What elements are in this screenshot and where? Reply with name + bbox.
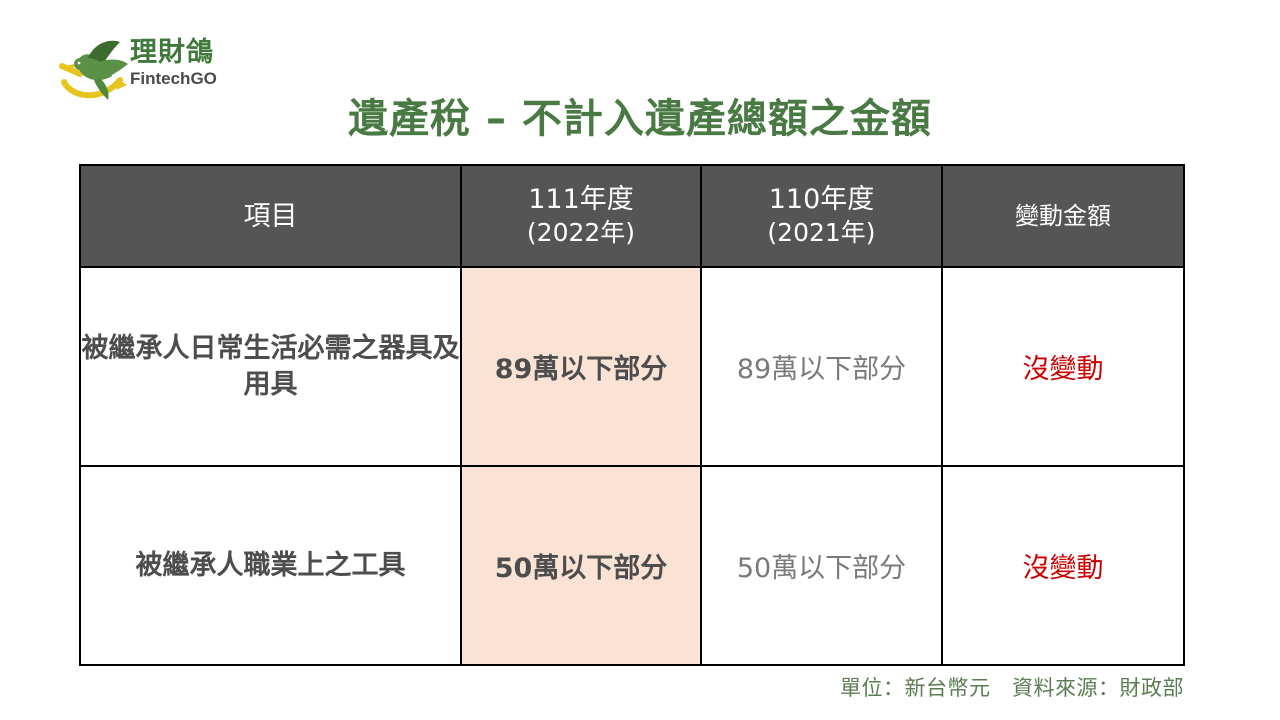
cell-year111: 89萬以下部分	[461, 267, 701, 466]
table-row: 被繼承人日常生活必需之器具及用具 89萬以下部分 89萬以下部分 沒變動	[80, 267, 1184, 466]
footnote-source: 單位：新台幣元 資料來源：財政部	[840, 672, 1184, 702]
cell-year110: 50萬以下部分	[701, 466, 942, 665]
table-body: 被繼承人日常生活必需之器具及用具 89萬以下部分 89萬以下部分 沒變動 被繼承…	[80, 267, 1184, 665]
column-header-year111-sub: (2022年)	[462, 216, 700, 249]
column-header-year111: 111年度 (2022年)	[461, 165, 701, 267]
column-header-year110-sub: (2021年)	[702, 216, 941, 249]
cell-year110: 89萬以下部分	[701, 267, 942, 466]
estate-tax-table: 項目 111年度 (2022年) 110年度 (2021年) 變動金額 被繼承人…	[79, 164, 1185, 666]
table-header: 項目 111年度 (2022年) 110年度 (2021年) 變動金額	[80, 165, 1184, 267]
column-header-year110-main: 110年度	[769, 184, 875, 215]
cell-item: 被繼承人職業上之工具	[80, 466, 461, 665]
table-row: 被繼承人職業上之工具 50萬以下部分 50萬以下部分 沒變動	[80, 466, 1184, 665]
table-header-row: 項目 111年度 (2022年) 110年度 (2021年) 變動金額	[80, 165, 1184, 267]
column-header-change: 變動金額	[942, 165, 1184, 267]
logo-chinese-name: 理財鴿	[130, 38, 280, 68]
cell-change: 沒變動	[942, 267, 1184, 466]
column-header-year110: 110年度 (2021年)	[701, 165, 942, 267]
cell-change: 沒變動	[942, 466, 1184, 665]
cell-year111: 50萬以下部分	[461, 466, 701, 665]
cell-item: 被繼承人日常生活必需之器具及用具	[80, 267, 461, 466]
column-header-item: 項目	[80, 165, 461, 267]
page-title: 遺產稅 – 不計入遺產總額之金額	[0, 86, 1280, 144]
column-header-year111-main: 111年度	[528, 184, 634, 215]
